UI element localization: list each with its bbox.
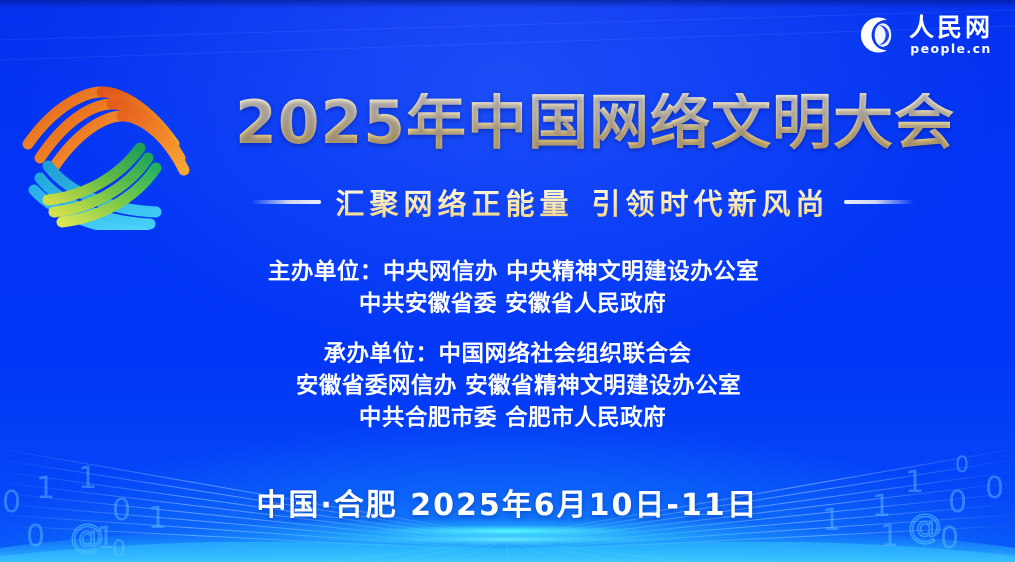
page-title: 2025年中国网络文明大会 xyxy=(200,93,990,153)
subtitle-dash-left xyxy=(251,200,321,204)
svg-text:0: 0 xyxy=(26,519,45,554)
subtitle-dash-right xyxy=(844,200,914,204)
svg-text:1: 1 xyxy=(880,519,899,554)
host-line-2: 中共安徽省委 安徽省人民政府 xyxy=(0,288,1015,320)
subtitle-text: 汇聚网络正能量引领时代新风尚 xyxy=(335,181,829,223)
host-organizers-block: 主办单位：中央网信办 中央精神文明建设办公室 中共安徽省委 安徽省人民政府 xyxy=(0,256,1015,320)
host-line-1: 主办单位：中央网信办 中央精神文明建设办公室 xyxy=(0,256,1015,288)
executing-organizers-block: 承办单位：中国网络社会组织联合会 安徽省委网信办 安徽省精神文明建设办公室 中共… xyxy=(0,338,1015,434)
executor-line-1: 承办单位：中国网络社会组织联合会 xyxy=(0,338,1015,370)
brand-name-cn: 人民网 xyxy=(909,15,993,40)
subtitle-row: 汇聚网络正能量引领时代新风尚 xyxy=(175,181,990,223)
subtitle-part-2: 引领时代新风尚 xyxy=(592,187,830,221)
people-cn-globe-icon xyxy=(858,14,900,56)
svg-text:0: 0 xyxy=(112,537,126,562)
subtitle-part-1: 汇聚网络正能量 xyxy=(335,187,573,221)
people-cn-logo: 人民网 people.cn xyxy=(858,14,993,56)
executor-line-2: 安徽省委网信办 安徽省精神文明建设办公室 xyxy=(0,370,1015,402)
conference-poster: 0 0 1 1 0 0 1 1 0 @ 0 0 1 1 0 1 1 0 @ xyxy=(0,0,1015,562)
location-date: 中国·合肥 2025年6月10日-11日 xyxy=(0,480,1015,524)
brand-name-en: people.cn xyxy=(910,43,991,56)
conference-emblem-icon xyxy=(14,82,194,230)
svg-text:0: 0 xyxy=(955,453,969,478)
executor-line-3: 中共合肥市委 合肥市人民政府 xyxy=(0,402,1015,434)
svg-text:0: 0 xyxy=(940,521,959,556)
